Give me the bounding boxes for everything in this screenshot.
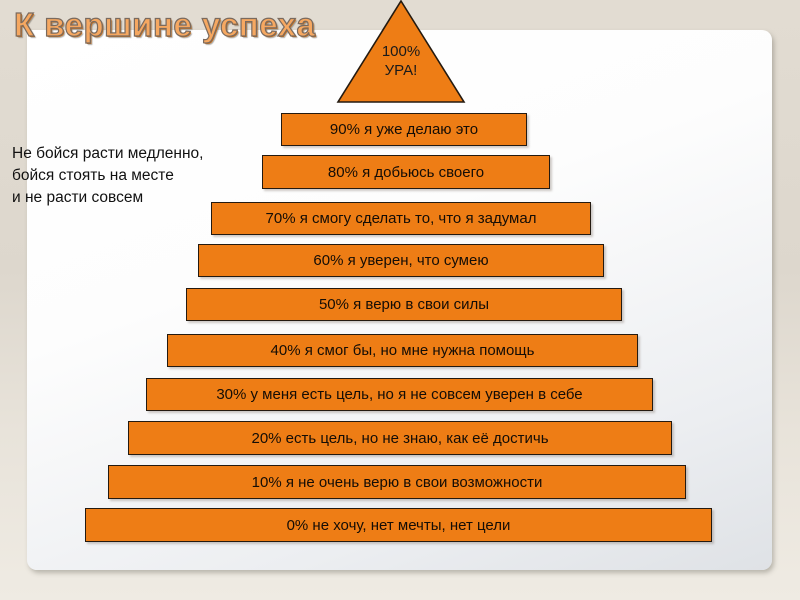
pyramid-level-10pct[interactable]: 10% я не очень верю в свои возможности [108, 465, 686, 499]
pyramid-level-label: 40% я смог бы, но мне нужна помощь [271, 342, 535, 359]
pyramid-level-label: 80% я добьюсь своего [328, 164, 484, 181]
pyramid-level-label: 50% я верю в свои силы [319, 296, 489, 313]
pyramid-level-80pct[interactable]: 80% я добьюсь своего [262, 155, 550, 189]
pyramid-level-label: 70% я смогу сделать то, что я задумал [266, 210, 537, 227]
quote-text-block: Не бойся расти медленно, бойся стоять на… [12, 143, 203, 209]
pyramid-level-label: 60% я уверен, что сумею [313, 252, 488, 269]
pyramid-level-60pct[interactable]: 60% я уверен, что сумею [198, 244, 604, 277]
pyramid-level-90pct[interactable]: 90% я уже делаю это [281, 113, 527, 146]
pyramid-level-0pct[interactable]: 0% не хочу, нет мечты, нет цели [85, 508, 712, 542]
presentation-slide: К вершине успеха Не бойся расти медленно… [0, 0, 800, 600]
pyramid-level-20pct[interactable]: 20% есть цель, но не знаю, как её достич… [128, 421, 672, 455]
pyramid-level-label: 10% я не очень верю в свои возможности [252, 474, 543, 491]
pyramid-level-label: 30% у меня есть цель, но я не совсем уве… [216, 386, 582, 403]
pyramid-apex-triangle: 100% УРА! [336, 0, 466, 104]
page-title: К вершине успеха [14, 6, 315, 44]
pyramid-level-label: 20% есть цель, но не знаю, как её достич… [251, 430, 548, 447]
pyramid-level-30pct[interactable]: 30% у меня есть цель, но я не совсем уве… [146, 378, 653, 411]
pyramid-level-label: 90% я уже делаю это [330, 121, 478, 138]
quote-line-1: Не бойся расти медленно, [12, 143, 203, 165]
quote-line-3: и не расти совсем [12, 187, 203, 209]
pyramid-level-70pct[interactable]: 70% я смогу сделать то, что я задумал [211, 202, 591, 235]
pyramid-level-label: 0% не хочу, нет мечты, нет цели [287, 517, 511, 534]
pyramid-level-50pct[interactable]: 50% я верю в свои силы [186, 288, 622, 321]
pyramid-level-40pct[interactable]: 40% я смог бы, но мне нужна помощь [167, 334, 638, 367]
quote-line-2: бойся стоять на месте [12, 165, 203, 187]
triangle-icon [336, 0, 466, 104]
